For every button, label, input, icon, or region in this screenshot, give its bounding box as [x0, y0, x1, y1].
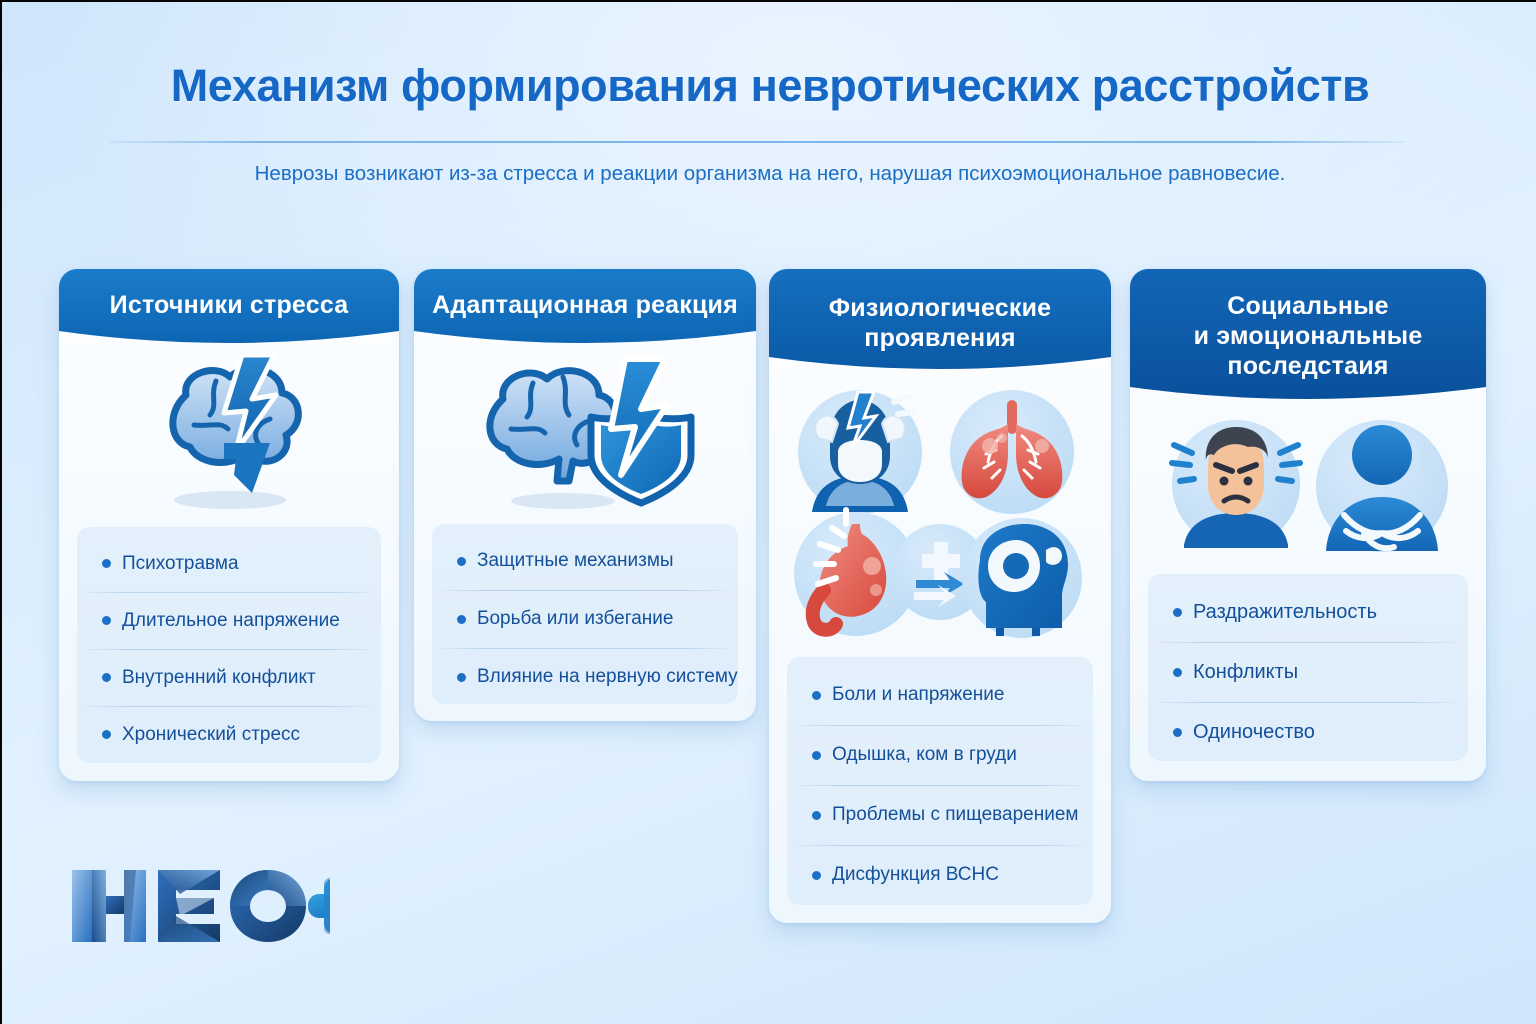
card-title: Адаптационная реакция: [414, 290, 756, 320]
card-list: Психотравма Длительное напряжение Внутре…: [77, 527, 381, 763]
list-item-label: Проблемы с пищеварением: [832, 804, 1078, 826]
list-item-label: Влияние на нервную систему: [477, 666, 738, 688]
neo-plus-logo-mark: [68, 864, 330, 948]
list-item[interactable]: Одышка, ком в груди: [787, 725, 1093, 785]
card-title-line-1: Физиологические: [829, 294, 1052, 322]
card-list: Раздражительность Конфликты Одиночество: [1148, 574, 1468, 761]
card-icon-area: [1130, 411, 1486, 561]
bullet-icon: [812, 691, 821, 700]
card-header: Адаптационная реакция: [414, 269, 756, 345]
card-icon-area: [414, 353, 756, 515]
brain-shield-lightning-icon: [465, 355, 705, 513]
list-item-label: Длительное напряжение: [122, 610, 340, 632]
bullet-icon: [457, 615, 466, 624]
card-title-line-2: и эмоциональные: [1194, 322, 1423, 350]
list-item[interactable]: Раздражительность: [1148, 582, 1468, 642]
card-social-emotional-consequences[interactable]: Социальные и эмоциональные последстаия: [1130, 269, 1486, 781]
physiological-icon-group: [790, 384, 1090, 639]
list-item[interactable]: Внутренний конфликт: [77, 649, 381, 706]
card-icon-area: [769, 381, 1111, 641]
bullet-icon: [102, 559, 111, 568]
bullet-icon: [1173, 668, 1182, 677]
bullet-icon: [457, 673, 466, 682]
bullet-icon: [812, 811, 821, 820]
header: Механизм формирования невротических расс…: [2, 2, 1536, 112]
bullet-icon: [457, 557, 466, 566]
list-item[interactable]: Хронический стресс: [77, 706, 381, 763]
page-subtitle: Неврозы возникают из-за стресса и реакци…: [2, 162, 1536, 186]
social-icon-group: [1158, 411, 1458, 561]
bullet-icon: [102, 730, 111, 739]
list-item-label: Боли и напряжение: [832, 684, 1004, 706]
list-item-label: Защитные механизмы: [477, 550, 674, 572]
list-item[interactable]: Влияние на нервную систему: [432, 648, 738, 706]
list-item[interactable]: Проблемы с пищеварением: [787, 785, 1093, 845]
list-item-label: Борьба или избегание: [477, 608, 674, 630]
brain-lightning-icon: [124, 355, 334, 513]
bullet-icon: [102, 616, 111, 625]
bullet-icon: [102, 673, 111, 682]
bullet-icon: [812, 871, 821, 880]
neo-plus-logo: [68, 864, 330, 948]
bullet-icon: [1173, 608, 1182, 617]
bullet-icon: [812, 751, 821, 760]
card-physiological-manifestations[interactable]: Физиологические проявления: [769, 269, 1111, 923]
list-item[interactable]: Длительное напряжение: [77, 592, 381, 649]
card-title-line-1: Социальные: [1227, 292, 1389, 320]
list-item[interactable]: Борьба или избегание: [432, 590, 738, 648]
card-title: Источники стресса: [59, 290, 399, 320]
card-header: Источники стресса: [59, 269, 399, 345]
page-title: Механизм формирования невротических расс…: [2, 2, 1536, 112]
title-divider: [109, 141, 1404, 143]
card-header: Физиологические проявления: [769, 269, 1111, 373]
card-list: Боли и напряжение Одышка, ком в груди Пр…: [787, 657, 1093, 905]
list-item[interactable]: Психотравма: [77, 535, 381, 592]
list-item-label: Дисфункция ВСНС: [832, 864, 999, 886]
card-title-line-3: последстаия: [1227, 352, 1388, 380]
list-item[interactable]: Конфликты: [1148, 642, 1468, 702]
list-item-label: Конфликты: [1193, 661, 1298, 684]
card-header: Социальные и эмоциональные последстаия: [1130, 269, 1486, 403]
list-item-label: Психотравма: [122, 553, 239, 575]
list-item-label: Внутренний конфликт: [122, 667, 316, 689]
bullet-icon: [1173, 728, 1182, 737]
card-icon-area: [59, 353, 399, 515]
card-stress-sources[interactable]: Источники стресса: [59, 269, 399, 781]
list-item[interactable]: Одиночество: [1148, 702, 1468, 762]
list-item[interactable]: Боли и напряжение: [787, 665, 1093, 725]
list-item-label: Раздражительность: [1193, 601, 1377, 624]
list-item-label: Одышка, ком в груди: [832, 744, 1017, 766]
list-item[interactable]: Защитные механизмы: [432, 532, 738, 590]
card-title-line-2: проявления: [864, 324, 1015, 352]
infographic-canvas: Механизм формирования невротических расс…: [0, 0, 1536, 1024]
list-item-label: Хронический стресс: [122, 724, 300, 746]
list-item[interactable]: Дисфункция ВСНС: [787, 845, 1093, 905]
list-item-label: Одиночество: [1193, 721, 1315, 744]
card-list: Защитные механизмы Борьба или избегание …: [432, 524, 738, 704]
card-adaptive-response[interactable]: Адаптационная реакция: [414, 269, 756, 721]
